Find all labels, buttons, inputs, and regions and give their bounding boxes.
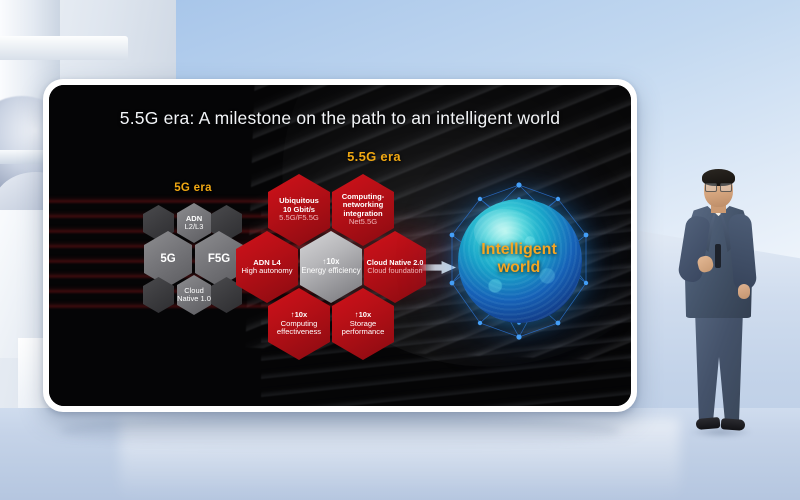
slide-title: 5.5G era: A milestone on the path to an … [49, 108, 631, 129]
hex-55g-ubiquitous-sub: 5.5G/F5.5G [279, 214, 319, 223]
presenter-shoe-left [696, 417, 721, 430]
era-5g-label: 5G era [145, 182, 241, 194]
presenter-glasses-icon [705, 183, 732, 190]
hex-5g-f5g-label: F5G [208, 253, 230, 266]
slide-screen: 5.5G era: A milestone on the path to an … [49, 85, 631, 406]
display-floor-reflection [60, 414, 620, 448]
presenter-shoe-right [721, 418, 746, 431]
intelligent-world-globe: Intelligent world [434, 177, 604, 347]
presenter-hand-right [738, 284, 750, 299]
hex-5g-adn-line2: L2/L3 [185, 223, 204, 231]
hex-55g-ce-line3: effectiveness [277, 328, 321, 337]
presenter [676, 170, 760, 442]
room-ledge-upper [0, 36, 128, 60]
hex-55g-energy-line2: Energy efficiency [301, 267, 360, 276]
presentation-display: 5.5G era: A milestone on the path to an … [43, 79, 637, 412]
era-55g-label: 5.5G era [304, 149, 444, 164]
intelligent-world-line2: world [498, 259, 541, 276]
hex-55g-sp-line3: performance [342, 328, 385, 337]
hex-55g-cn2-sub: Cloud foundation [367, 267, 422, 275]
intelligent-world-label: Intelligent world [434, 241, 604, 278]
intelligent-world-line1: Intelligent [481, 241, 557, 258]
hex-5g-cloud-line2: Native 1.0 [177, 295, 211, 303]
hex-55g-adn-line2: High autonomy [241, 267, 292, 276]
presenter-trousers [694, 310, 744, 422]
hex-55g-cn-sub: Net5.5G [349, 218, 377, 227]
screenshot-stage: 5.5G era: A milestone on the path to an … [0, 0, 800, 500]
hex-5g-5g-label: 5G [160, 253, 175, 266]
presenter-tie [715, 244, 721, 268]
